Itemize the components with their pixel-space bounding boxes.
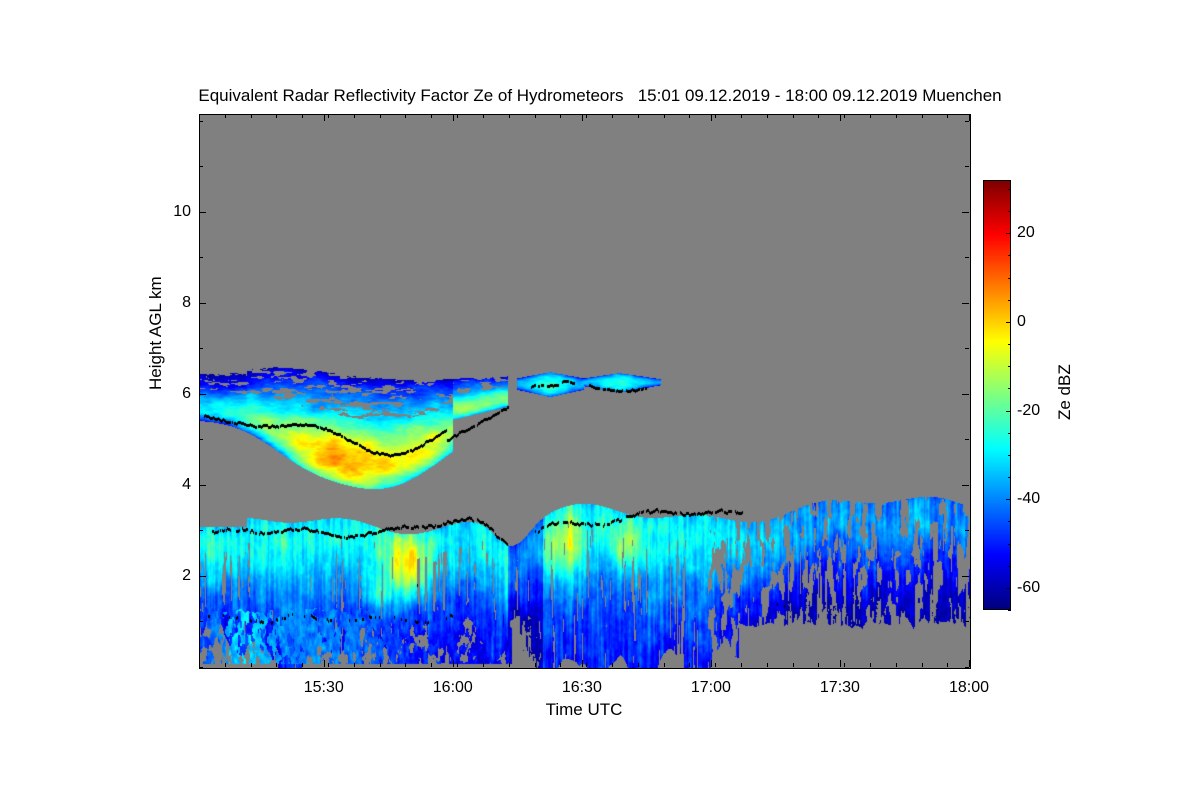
y-tick-major [199, 485, 206, 486]
colorbar-tick-minor [1008, 300, 1011, 301]
x-tick-minor [509, 663, 510, 667]
x-tick-minor-top [922, 114, 923, 118]
x-tick-label: 15:30 [289, 679, 359, 697]
x-tick-minor-top [276, 114, 277, 118]
x-tick-label: 16:30 [547, 679, 617, 697]
colorbar-tick-minor [1008, 544, 1011, 545]
x-tick-minor-top [638, 114, 639, 118]
colorbar-tick [1006, 499, 1011, 500]
x-tick-minor [380, 663, 381, 667]
x-tick-minor-top [354, 114, 355, 118]
x-tick-major [453, 660, 454, 667]
colorbar-tick-minor [1008, 278, 1011, 279]
x-tick-minor [715, 663, 716, 667]
x-tick-minor-top [328, 114, 329, 118]
x-tick-minor-top [431, 114, 432, 118]
x-tick-minor [870, 663, 871, 667]
x-tick-major [840, 660, 841, 667]
colorbar-tick-minor [1008, 521, 1011, 522]
x-tick-minor-top [612, 114, 613, 118]
y-tick-minor-right [965, 348, 969, 349]
x-tick-minor-top [509, 114, 510, 118]
x-tick-major-top [324, 114, 325, 121]
y-tick-minor [199, 667, 203, 668]
colorbar-tick-minor [1008, 566, 1011, 567]
radar-reflectivity-figure: Equivalent Radar Reflectivity Factor Ze … [0, 0, 1200, 800]
x-tick-label: 17:30 [805, 679, 875, 697]
colorbar-tick-minor [1008, 388, 1011, 389]
colorbar-tick-minor [1008, 366, 1011, 367]
x-axis-title: Time UTC [199, 700, 969, 720]
x-tick-minor [638, 663, 639, 667]
y-tick-minor [199, 121, 203, 122]
colorbar [983, 180, 1011, 610]
x-tick-minor [457, 663, 458, 667]
colorbar-tick-label: -60 [1017, 579, 1040, 597]
x-tick-minor [612, 663, 613, 667]
x-tick-minor-top [225, 114, 226, 118]
colorbar-tick-minor [1008, 433, 1011, 434]
x-tick-minor [767, 663, 768, 667]
colorbar-tick-minor [1008, 344, 1011, 345]
x-tick-minor [405, 663, 406, 667]
colorbar-tick-label: -20 [1017, 402, 1040, 420]
y-tick-major [199, 394, 206, 395]
x-tick-major [969, 660, 970, 667]
x-tick-minor [741, 663, 742, 667]
x-tick-minor [302, 663, 303, 667]
colorbar-tick-minor [1008, 255, 1011, 256]
x-tick-minor [251, 663, 252, 667]
x-tick-minor [689, 663, 690, 667]
x-tick-minor-top [199, 114, 200, 118]
x-tick-minor [199, 663, 200, 667]
x-tick-minor [354, 663, 355, 667]
x-tick-minor [276, 663, 277, 667]
reflectivity-heatmap [200, 115, 970, 668]
y-tick-major [199, 576, 206, 577]
x-tick-minor [664, 663, 665, 667]
x-tick-minor-top [380, 114, 381, 118]
y-tick-minor-right [965, 257, 969, 258]
colorbar-tick [1006, 233, 1011, 234]
colorbar-title: Ze dBZ [1055, 364, 1075, 420]
y-tick-major [199, 212, 206, 213]
x-tick-major-top [453, 114, 454, 121]
x-tick-minor-top [741, 114, 742, 118]
colorbar-tick [1006, 322, 1011, 323]
x-tick-major-top [840, 114, 841, 121]
y-tick-minor [199, 257, 203, 258]
x-tick-minor-top [483, 114, 484, 118]
x-tick-minor-top [870, 114, 871, 118]
y-tick-minor-right [965, 621, 969, 622]
x-tick-minor-top [664, 114, 665, 118]
x-tick-minor-top [535, 114, 536, 118]
colorbar-tick-minor [1008, 211, 1011, 212]
x-tick-major-top [969, 114, 970, 121]
x-tick-minor [586, 663, 587, 667]
x-tick-major [324, 660, 325, 667]
colorbar-tick [1006, 411, 1011, 412]
y-tick-minor-right [965, 439, 969, 440]
y-tick-major-right [962, 212, 969, 213]
x-tick-major [582, 660, 583, 667]
x-tick-minor [947, 663, 948, 667]
chart-title: Equivalent Radar Reflectivity Factor Ze … [0, 86, 1200, 106]
x-tick-minor-top [793, 114, 794, 118]
y-tick-major-right [962, 394, 969, 395]
x-tick-minor [483, 663, 484, 667]
x-tick-minor-top [586, 114, 587, 118]
y-axis-title: Height AGL km [146, 276, 166, 390]
colorbar-tick-label: -40 [1017, 490, 1040, 508]
x-tick-minor [844, 663, 845, 667]
y-tick-major-right [962, 485, 969, 486]
x-tick-minor-top [896, 114, 897, 118]
x-tick-minor [225, 663, 226, 667]
y-tick-label: 2 [151, 567, 191, 585]
x-tick-label: 16:00 [418, 679, 488, 697]
x-tick-minor-top [715, 114, 716, 118]
colorbar-tick-minor [1008, 189, 1011, 190]
colorbar-tick-minor [1008, 455, 1011, 456]
x-tick-minor-top [405, 114, 406, 118]
x-tick-minor-top [844, 114, 845, 118]
y-tick-major-right [962, 303, 969, 304]
x-tick-major [711, 660, 712, 667]
x-tick-minor [431, 663, 432, 667]
x-tick-minor [560, 663, 561, 667]
x-tick-label: 18:00 [934, 679, 1004, 697]
x-tick-minor-top [767, 114, 768, 118]
y-tick-major-right [962, 576, 969, 577]
x-tick-minor [535, 663, 536, 667]
x-tick-minor-top [560, 114, 561, 118]
x-tick-minor-top [251, 114, 252, 118]
y-tick-major [199, 303, 206, 304]
colorbar-tick-label: 0 [1017, 313, 1026, 331]
x-tick-minor-top [689, 114, 690, 118]
y-tick-label: 10 [151, 203, 191, 221]
x-tick-minor [793, 663, 794, 667]
plot-area [199, 114, 971, 669]
x-tick-minor-top [302, 114, 303, 118]
colorbar-tick-minor [1008, 477, 1011, 478]
y-tick-minor-right [965, 530, 969, 531]
colorbar-tick-minor [1008, 610, 1011, 611]
x-tick-minor-top [457, 114, 458, 118]
y-tick-minor [199, 348, 203, 349]
y-tick-minor [199, 166, 203, 167]
x-tick-minor [896, 663, 897, 667]
x-tick-minor [818, 663, 819, 667]
x-tick-major-top [582, 114, 583, 121]
x-tick-minor-top [947, 114, 948, 118]
y-tick-minor-right [965, 667, 969, 668]
y-tick-minor-right [965, 166, 969, 167]
x-tick-minor [922, 663, 923, 667]
x-tick-label: 17:00 [676, 679, 746, 697]
colorbar-gradient [983, 180, 1011, 610]
colorbar-tick-label: 20 [1017, 224, 1035, 242]
y-tick-minor [199, 439, 203, 440]
y-tick-label: 4 [151, 476, 191, 494]
y-tick-minor [199, 621, 203, 622]
x-tick-minor [328, 663, 329, 667]
y-tick-minor [199, 530, 203, 531]
x-tick-minor-top [818, 114, 819, 118]
colorbar-tick [1006, 588, 1011, 589]
x-tick-major-top [711, 114, 712, 121]
